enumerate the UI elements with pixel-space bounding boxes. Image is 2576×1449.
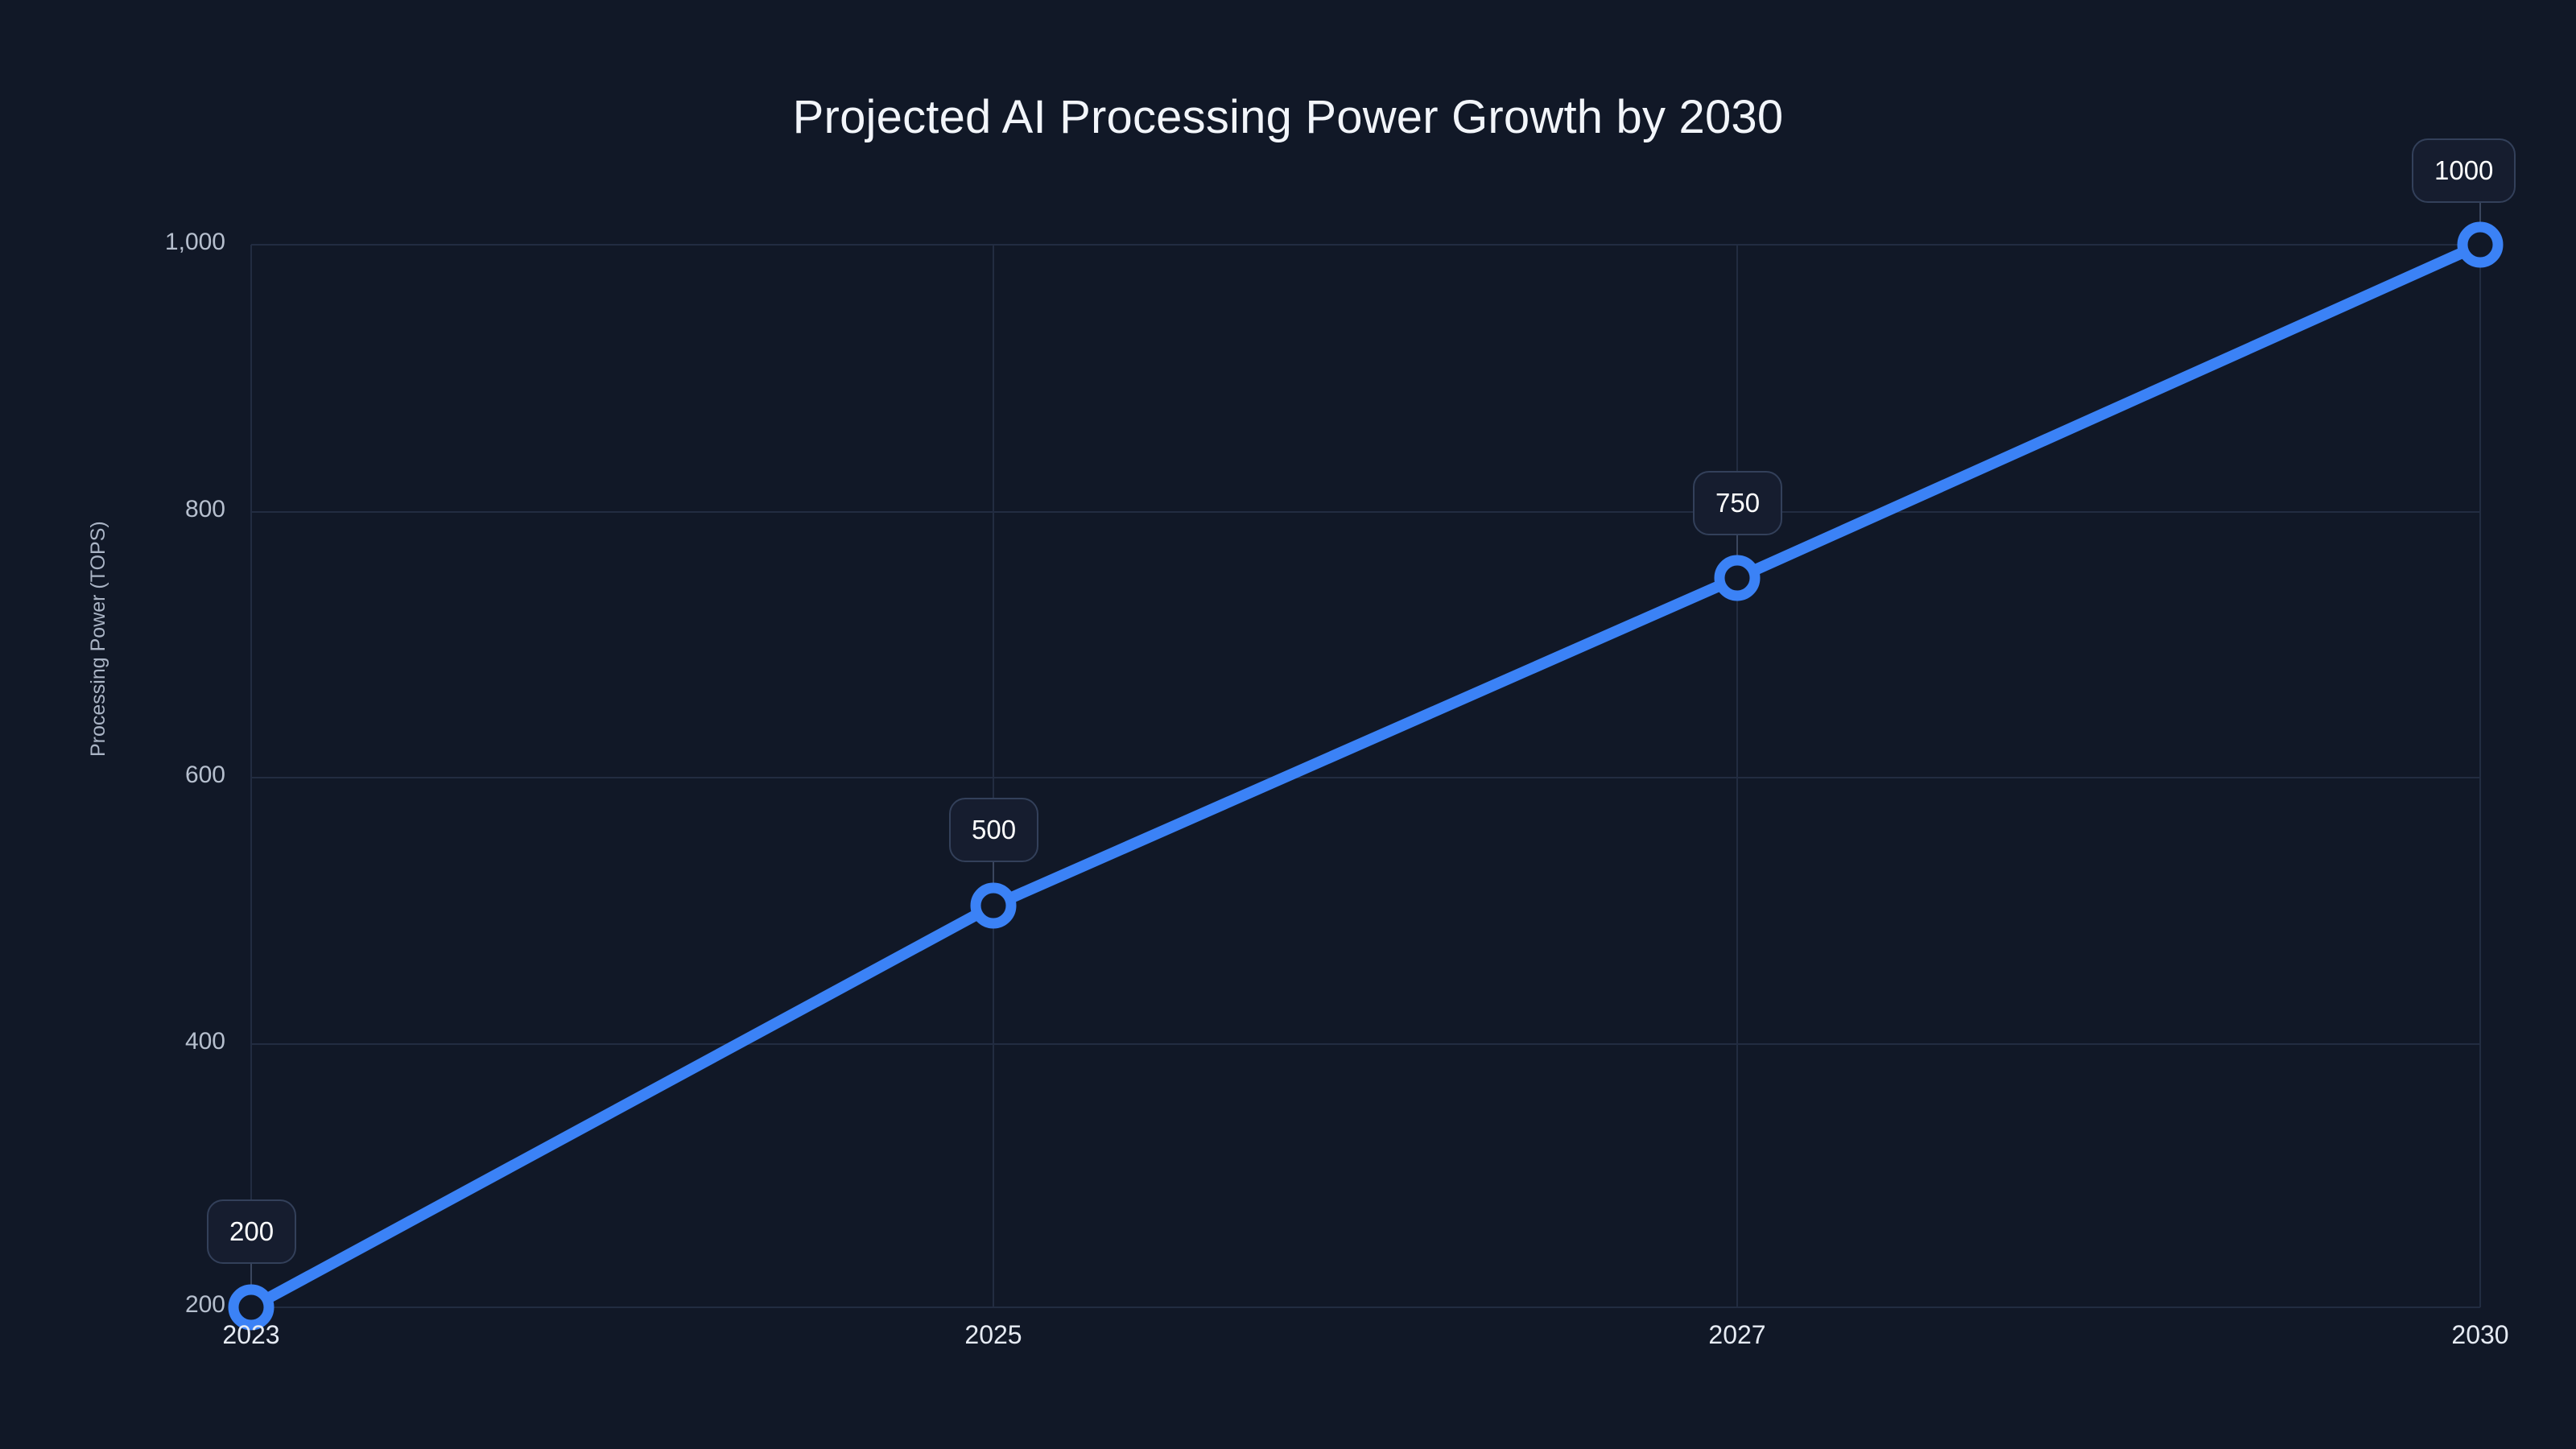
x-tick-label-2025: 2025 [873, 1320, 1114, 1350]
line-chart-canvas: Projected AI Processing Power Growth by … [0, 0, 2576, 1449]
badge-connectors [251, 201, 2480, 1307]
data-point-2027[interactable] [1719, 560, 1755, 596]
plot-area [0, 0, 2576, 1449]
y-tick-label-1000: 1,000 [32, 229, 225, 256]
y-tick-label-800: 800 [32, 496, 225, 523]
x-tick-label-2030: 2030 [2359, 1320, 2576, 1350]
data-label-badge-2030[interactable]: 1000 [2412, 138, 2516, 203]
x-tick-label-2023: 2023 [130, 1320, 372, 1350]
horizontal-gridlines [251, 245, 2480, 1307]
y-tick-label-200: 200 [32, 1291, 225, 1319]
data-label-badge-2023[interactable]: 200 [207, 1199, 296, 1264]
data-point-2030[interactable] [2462, 227, 2498, 262]
x-tick-label-2027: 2027 [1616, 1320, 1858, 1350]
y-tick-label-400: 400 [32, 1028, 225, 1055]
data-label-badge-2025[interactable]: 500 [949, 798, 1038, 862]
vertical-gridlines [251, 245, 2480, 1307]
data-label-badge-2027[interactable]: 750 [1693, 471, 1782, 535]
data-line-series-1 [251, 245, 2480, 1307]
data-point-2025[interactable] [976, 888, 1011, 923]
y-tick-label-600: 600 [32, 762, 225, 789]
